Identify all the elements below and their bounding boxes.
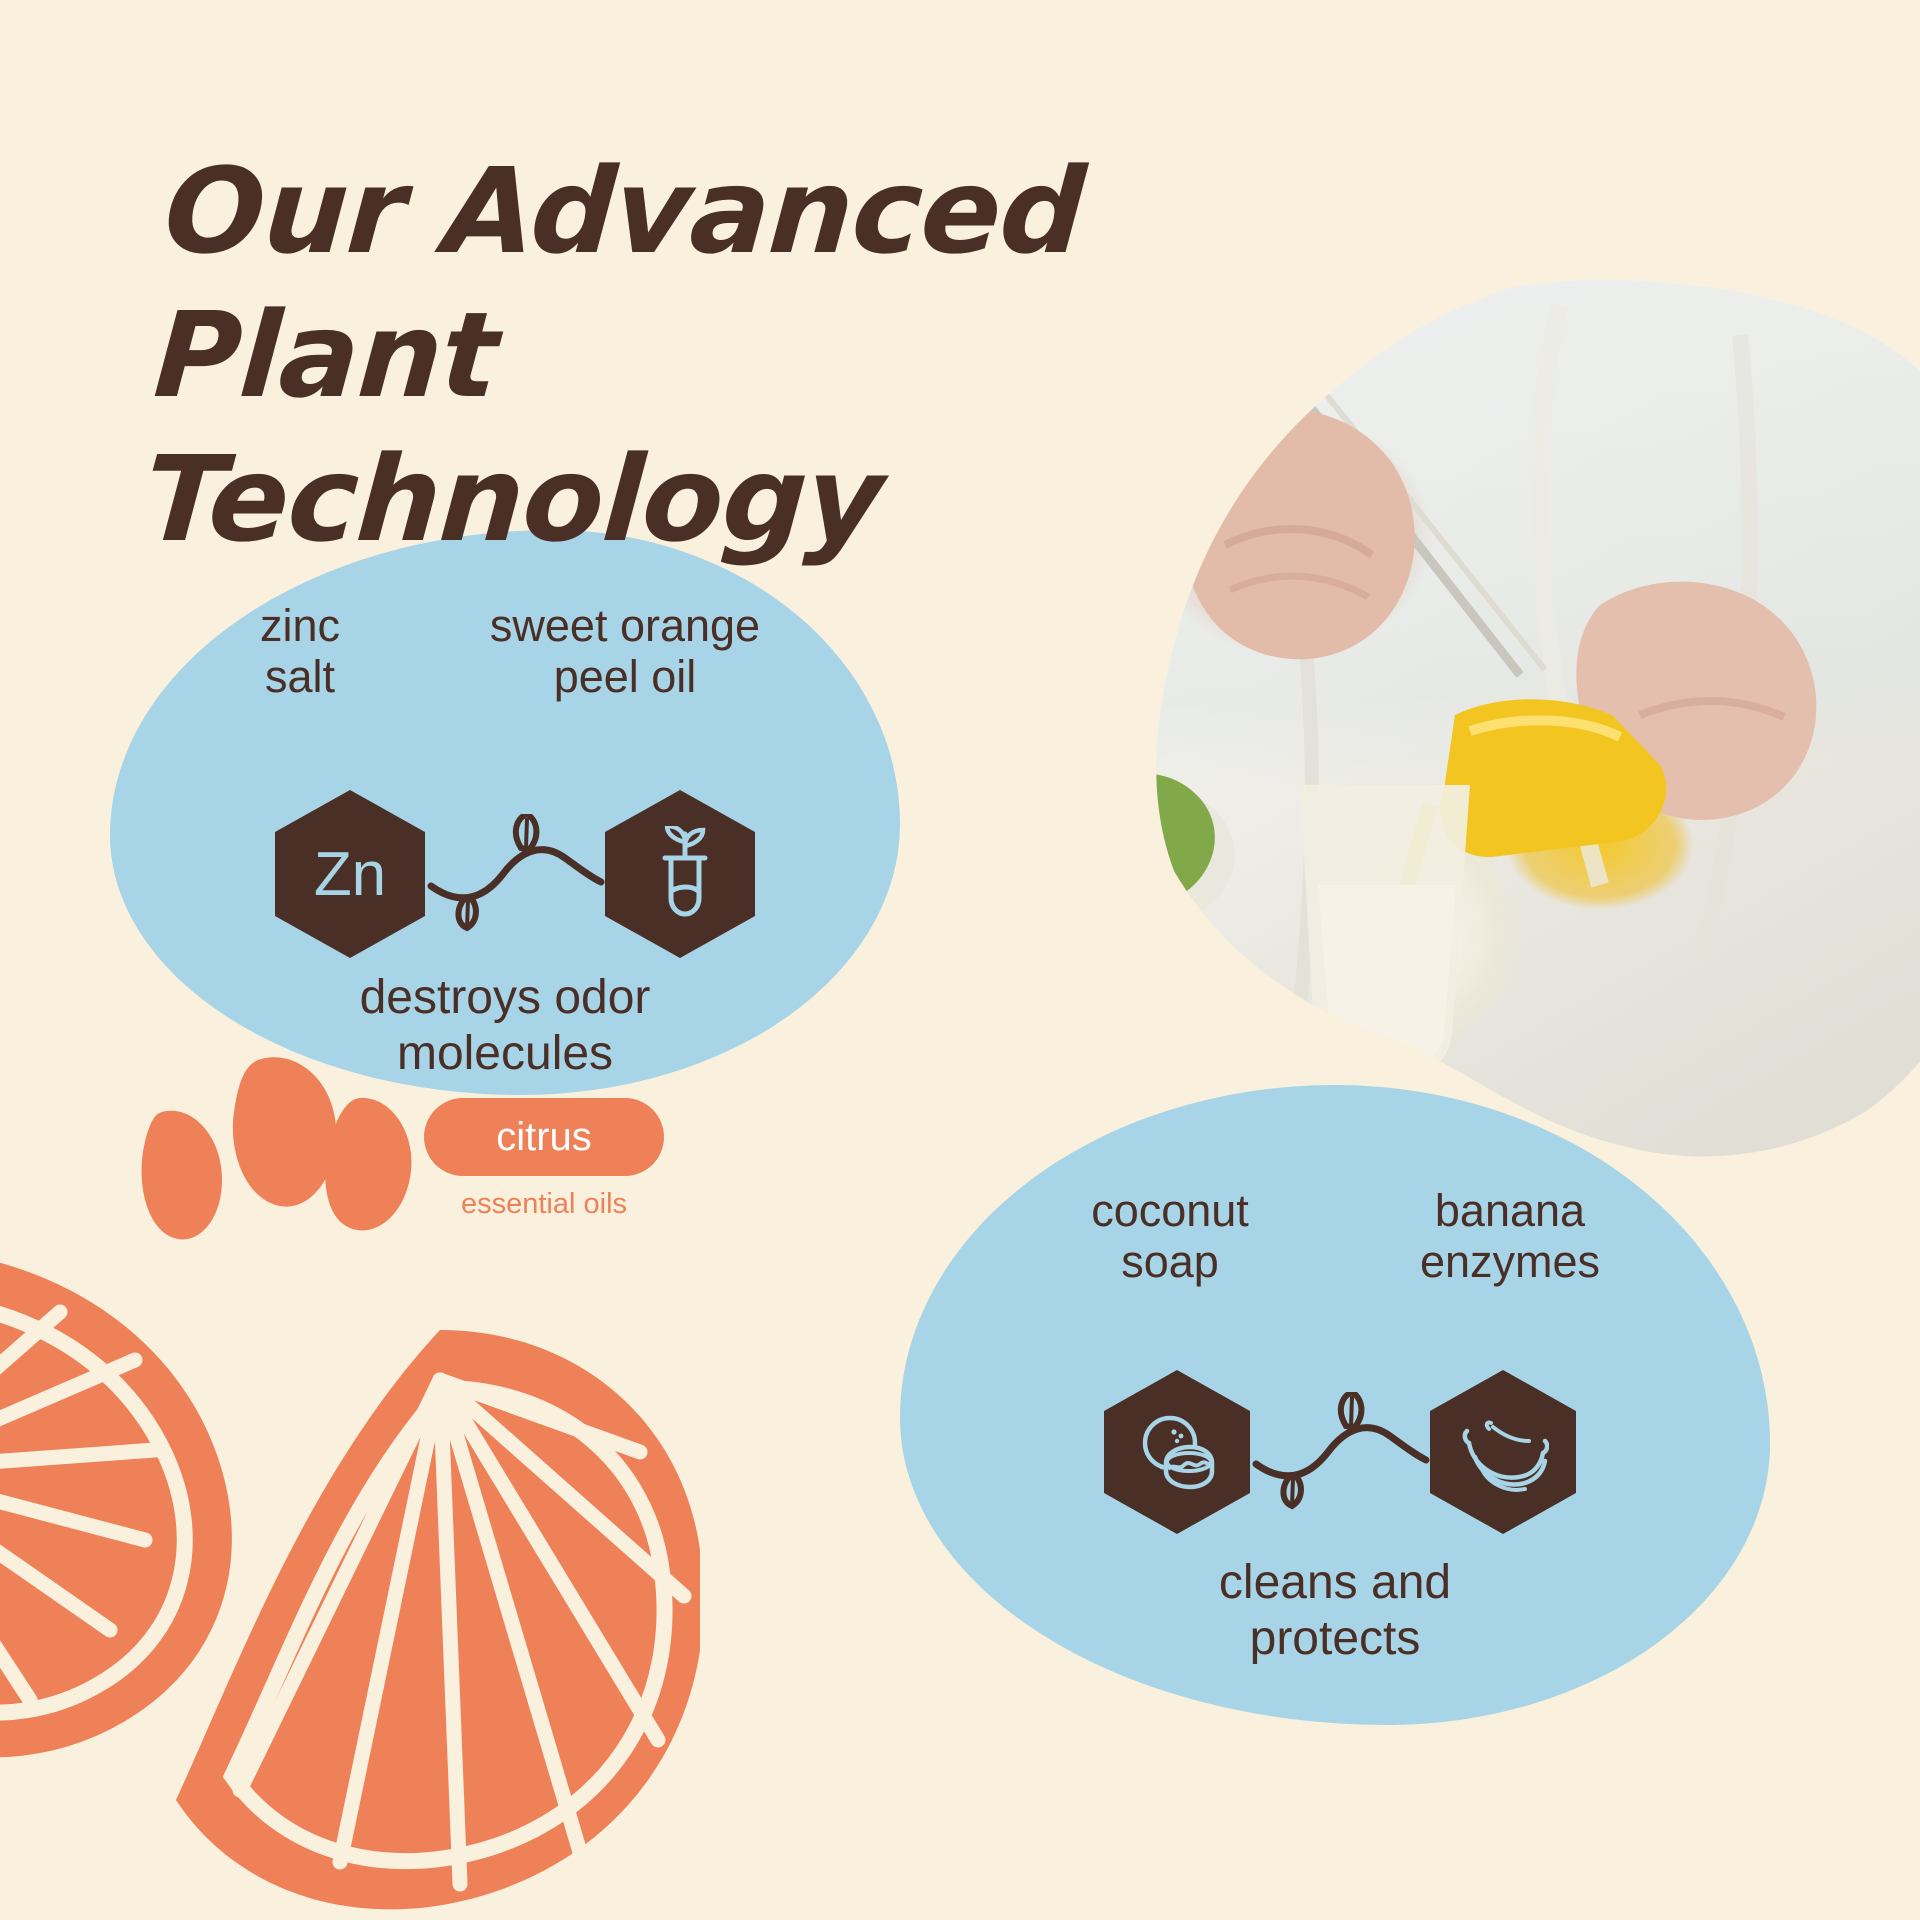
essential-oils-label: essential oils [424, 1188, 664, 1221]
plant-test-tube-hexagon-icon [605, 790, 755, 958]
citrus-badge[interactable]: citrus [424, 1098, 664, 1176]
zinc-hexagon-icon: Zn [275, 790, 425, 958]
vine-leaf-connector-icon [1250, 1392, 1430, 1512]
panel-clean-blob: coconut soap banana enzymes [900, 1085, 1770, 1725]
panel-clean-caption: cleans and protects [900, 1555, 1770, 1666]
panel-odor-blob: zinc salt sweet orange peel oil Zn [110, 530, 900, 1095]
banana-glyph [1457, 1409, 1549, 1495]
coconut-glyph [1132, 1407, 1222, 1497]
coconut-soap-label: coconut soap [1020, 1185, 1320, 1288]
coconut-hexagon-icon [1104, 1370, 1250, 1534]
panel-odor-molecule-row: Zn [250, 790, 780, 958]
panel-clean-molecule-row [1070, 1370, 1610, 1534]
zinc-salt-label: zinc salt [205, 600, 395, 703]
vine-leaf-connector-icon [425, 814, 605, 934]
zinc-symbol-label: Zn [314, 839, 386, 910]
page-title: Our Advanced Plant Technology [140, 140, 1250, 572]
panel-odor-labels: zinc salt sweet orange peel oil [190, 600, 830, 703]
banana-enzymes-label: banana enzymes [1360, 1185, 1660, 1288]
citrus-badge-label: citrus [496, 1115, 592, 1160]
panel-clean-labels: coconut soap banana enzymes [1010, 1185, 1670, 1288]
banana-hexagon-icon [1430, 1370, 1576, 1534]
panel-odor-caption: destroys odor molecules [110, 970, 900, 1081]
plant-test-tube-glyph [637, 826, 723, 922]
poster-canvas: Our Advanced Plant Technology zinc salt … [0, 0, 1920, 1920]
sweet-orange-peel-oil-label: sweet orange peel oil [435, 600, 815, 703]
